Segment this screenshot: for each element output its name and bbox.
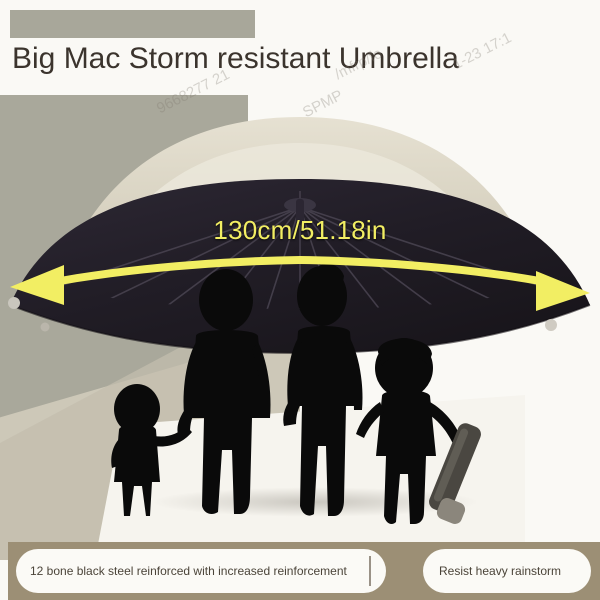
top-grey-band	[10, 10, 255, 38]
caption-pill-secondary: Resist heavy rainstorm	[423, 549, 591, 593]
caption-divider	[369, 556, 371, 586]
caption-text-secondary: Resist heavy rainstorm	[439, 564, 561, 579]
product-image: 130cm/51.18in Big Mac Storm resistant Um…	[0, 0, 600, 600]
floor-shadow	[150, 487, 480, 517]
caption-bar: 12 bone black steel reinforced with incr…	[8, 542, 600, 600]
caption-pill-primary: 12 bone black steel reinforced with incr…	[16, 549, 386, 593]
caption-text-primary: 12 bone black steel reinforced with incr…	[30, 564, 347, 579]
page-title: Big Mac Storm resistant Umbrella	[12, 42, 459, 76]
